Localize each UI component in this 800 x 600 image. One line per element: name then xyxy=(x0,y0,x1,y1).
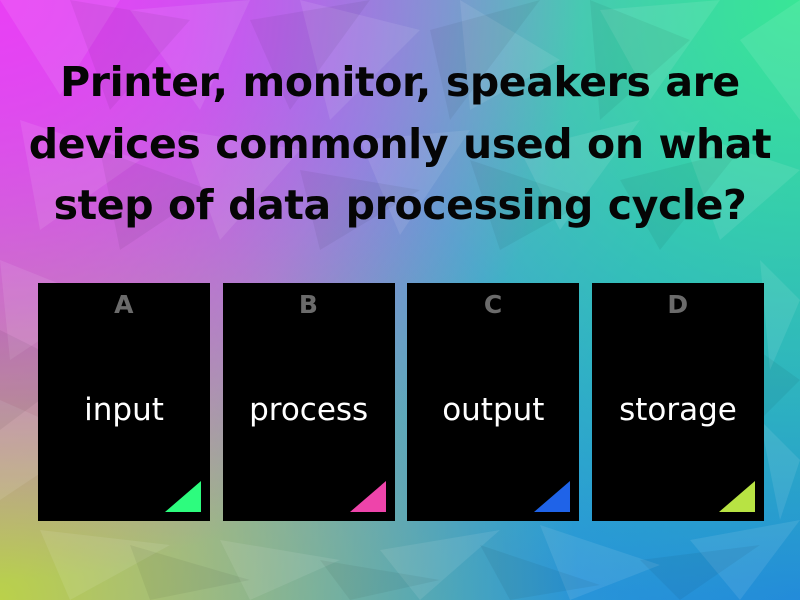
triangle-corner-icon-c xyxy=(534,481,570,512)
triangle-corner-icon-d xyxy=(719,481,755,512)
answer-text-c: output xyxy=(438,393,548,427)
answer-option-d[interactable]: D storage xyxy=(592,283,764,521)
triangle-corner-icon-b xyxy=(350,481,386,512)
answer-letter-b: B xyxy=(299,292,319,317)
answer-text-b: process xyxy=(245,393,372,427)
quiz-stage: Printer, monitor, speakers are devices c… xyxy=(0,0,800,600)
corner-triangle-shape-a xyxy=(165,481,201,512)
answer-text-a: input xyxy=(80,393,168,427)
answer-letter-a: A xyxy=(114,292,134,317)
answer-text-d: storage xyxy=(615,393,741,427)
answer-option-b[interactable]: B process xyxy=(223,283,395,521)
corner-triangle-shape-c xyxy=(534,481,570,512)
answer-option-c[interactable]: C output xyxy=(407,283,579,521)
question-area: Printer, monitor, speakers are devices c… xyxy=(0,52,800,237)
answers-row: A input B process C output xyxy=(38,283,764,521)
answer-option-a[interactable]: A input xyxy=(38,283,210,521)
triangle-corner-icon-a xyxy=(165,481,201,512)
answer-letter-d: D xyxy=(667,292,688,317)
answer-letter-c: C xyxy=(484,292,503,317)
question-text: Printer, monitor, speakers are devices c… xyxy=(20,52,780,237)
corner-triangle-shape-d xyxy=(719,481,755,512)
corner-triangle-shape-b xyxy=(350,481,386,512)
